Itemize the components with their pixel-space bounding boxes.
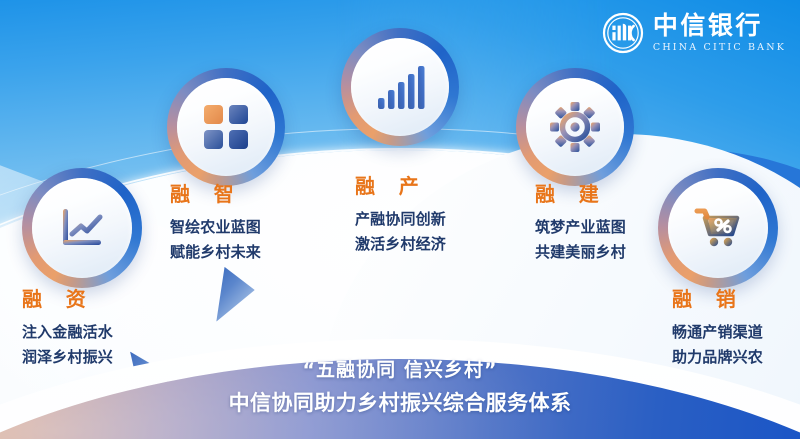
pillar-caption-rongzhi: 融 智 智绘农业蓝图 赋能乡村未来 [170, 178, 261, 262]
brand-logo[interactable]: 中信银行 CHINA CITIC BANK [602, 12, 786, 54]
pillar-icon-well-rongchan [351, 38, 449, 136]
poster-canvas: “五融协同 信兴乡村” 中信协同助力乡村振兴综合服务体系 [0, 0, 800, 439]
pillar-title-rongxiao: 融 销 [672, 283, 763, 312]
pillar-icon-well-rongzi [32, 178, 132, 278]
brand-name-en: CHINA CITIC BANK [653, 42, 786, 53]
pillar-caption-rongzi: 融 资 注入金融活水 润泽乡村振兴 [22, 283, 113, 367]
pillar-bubble-rongzhi[interactable] [167, 68, 285, 186]
line-chart-icon [55, 201, 109, 255]
banner-subtitle: 中信协同助力乡村振兴综合服务体系 [0, 387, 800, 417]
pillar-title-rongjian: 融 建 [535, 178, 626, 207]
pillar-line2-rongzhi: 赋能乡村未来 [170, 241, 261, 262]
pillar-title-rongzhi: 融 智 [170, 178, 261, 207]
citic-circle-logo-icon [602, 12, 644, 54]
pillar-line2-rongjian: 共建美丽乡村 [535, 241, 626, 262]
pillar-bubble-rongchan[interactable] [341, 28, 459, 146]
pillar-line2-rongzi: 润泽乡村振兴 [22, 346, 113, 367]
pillar-icon-well-rongzhi [177, 78, 275, 176]
pillar-line2-rongchan: 激活乡村经济 [355, 233, 446, 254]
pillar-title-rongchan: 融 产 [355, 170, 446, 199]
shopping-cart-percent-icon [691, 201, 745, 255]
pillar-ring-rongzhi [167, 68, 285, 186]
pillar-ring-rongchan [341, 28, 459, 146]
pillar-ring-rongzi [22, 168, 142, 288]
pillar-caption-rongjian: 融 建 筑梦产业蓝图 共建美丽乡村 [535, 178, 626, 262]
pillar-bubble-rongjian[interactable] [516, 68, 634, 186]
pillar-line1-rongxiao: 畅通产销渠道 [672, 321, 763, 342]
pillar-line1-rongzhi: 智绘农业蓝图 [170, 216, 261, 237]
pillar-line1-rongjian: 筑梦产业蓝图 [535, 216, 626, 237]
grid-squares-icon [201, 102, 251, 152]
pillar-icon-well-rongjian [526, 78, 624, 176]
pillar-line2-rongxiao: 助力品牌兴农 [672, 346, 763, 367]
pillar-line1-rongchan: 产融协同创新 [355, 208, 446, 229]
pillar-icon-well-rongxiao [668, 178, 768, 278]
pillar-caption-rongxiao: 融 销 畅通产销渠道 助力品牌兴农 [672, 283, 763, 367]
bar-chart-icon [375, 62, 425, 112]
brand-name-cn: 中信银行 [653, 13, 786, 38]
gear-icon [548, 100, 602, 154]
pillar-caption-rongchan: 融 产 产融协同创新 激活乡村经济 [355, 170, 446, 254]
pillar-title-rongzi: 融 资 [22, 283, 113, 312]
pillar-bubble-rongzi[interactable] [22, 168, 142, 288]
pillar-bubble-rongxiao[interactable] [658, 168, 778, 288]
pillar-ring-rongxiao [658, 168, 778, 288]
pillar-ring-rongjian [516, 68, 634, 186]
pillar-line1-rongzi: 注入金融活水 [22, 321, 113, 342]
